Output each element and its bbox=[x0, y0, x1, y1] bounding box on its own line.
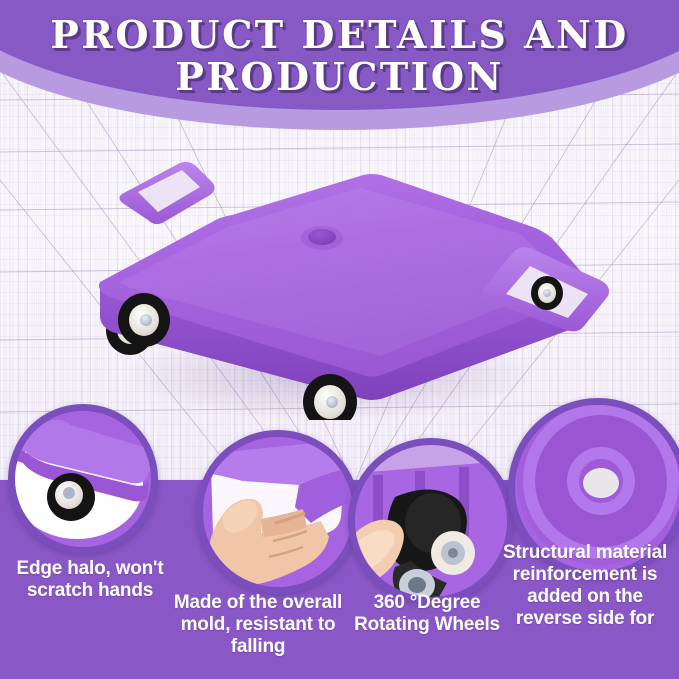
caption-edge-halo-line-1: Edge halo, won't bbox=[4, 558, 176, 580]
caption-structural-line-3: added on the bbox=[490, 586, 679, 608]
caption-rotating-wheels: 360 °Degree Rotating Wheels bbox=[340, 592, 514, 636]
caption-structural-line-2: reinforcement is bbox=[490, 564, 679, 586]
caption-overall-mold-line-3: falling bbox=[160, 636, 356, 658]
caption-rotating-wheels-line-1: 360 °Degree bbox=[340, 592, 514, 614]
inset-overall-mold-image bbox=[203, 437, 353, 587]
inset-overall-mold[interactable] bbox=[196, 430, 360, 594]
caster-wheel-front-left bbox=[118, 293, 170, 347]
caption-edge-halo: Edge halo, won't scratch hands bbox=[4, 558, 176, 602]
caption-overall-mold: Made of the overall mold, resistant to f… bbox=[160, 592, 356, 658]
caption-overall-mold-line-1: Made of the overall bbox=[160, 592, 356, 614]
caption-structural-reinforcement: Structural material reinforcement is add… bbox=[490, 542, 679, 630]
caption-edge-halo-line-2: scratch hands bbox=[4, 580, 176, 602]
inset-edge-halo[interactable] bbox=[8, 404, 158, 554]
caption-structural-line-4: reverse side for bbox=[490, 608, 679, 630]
caption-rotating-wheels-line-2: Rotating Wheels bbox=[340, 614, 514, 636]
center-hole bbox=[308, 229, 336, 245]
caption-structural-line-1: Structural material bbox=[490, 542, 679, 564]
inset-edge-halo-image bbox=[15, 411, 151, 547]
inset-rotating-wheels-image bbox=[355, 445, 507, 597]
product-infographic-poster: PRODUCT DETAILS AND PRODUCTION bbox=[0, 0, 679, 679]
wheel-bolt bbox=[63, 487, 75, 499]
caption-overall-mold-line-2: mold, resistant to bbox=[160, 614, 356, 636]
center-hole bbox=[583, 468, 619, 498]
product-scooter-board-image bbox=[60, 130, 630, 420]
